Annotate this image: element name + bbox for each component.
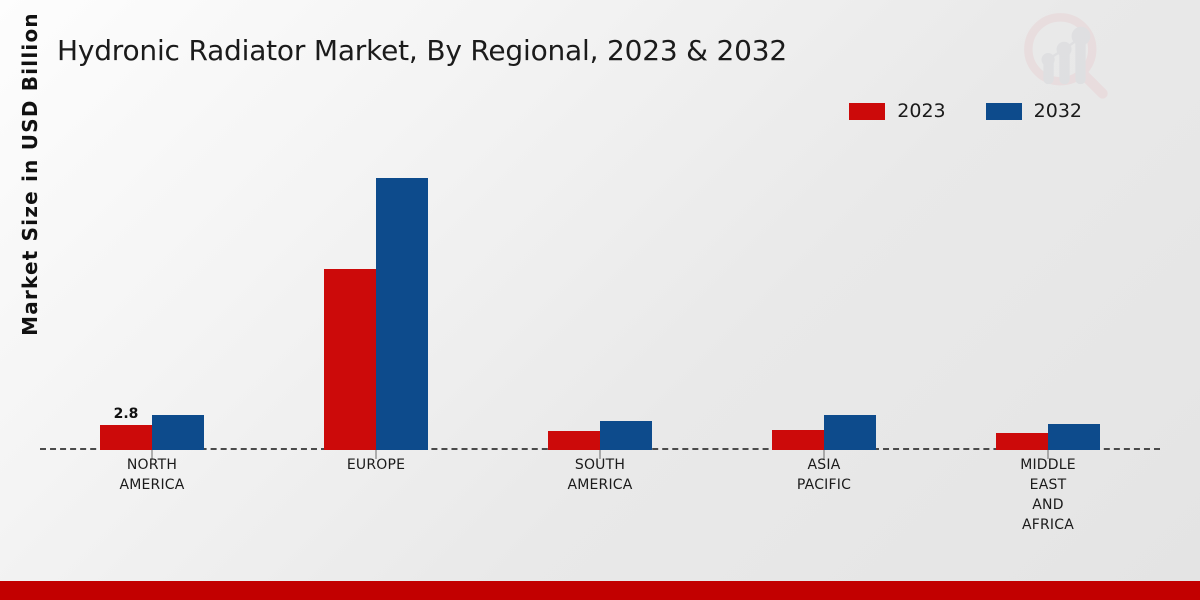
y-axis-title: Market Size in USD Billion (18, 4, 42, 344)
bar-2032-middle-east-and-africa[interactable] (1048, 424, 1100, 450)
footer-accent-bar (0, 581, 1200, 600)
bar-2032-south-america[interactable] (600, 421, 652, 450)
x-axis-label-asia-pacific: ASIAPACIFIC (712, 456, 936, 536)
legend-item-2032[interactable]: 2032 (986, 102, 1082, 121)
bar-2023-middle-east-and-africa[interactable] (996, 433, 1048, 450)
x-axis-label-north-america: NORTHAMERICA (40, 456, 264, 536)
bar-pair: 2.8 (100, 415, 204, 450)
x-axis-label-line: AND (936, 496, 1160, 516)
chart-legend: 2023 2032 (849, 102, 1082, 121)
legend-swatch-2023 (849, 103, 885, 120)
bar-group: 2.8 (40, 150, 264, 450)
bar-2032-north-america[interactable] (152, 415, 204, 450)
bar-group (936, 150, 1160, 450)
bar-2023-asia-pacific[interactable] (772, 430, 824, 450)
x-axis-label-line: SOUTH (488, 456, 712, 476)
bar-value-label: 2.8 (114, 406, 139, 422)
bar-pair (324, 178, 428, 450)
x-axis-label-line: EAST (936, 476, 1160, 496)
x-axis-label-line: ASIA (712, 456, 936, 476)
bar-2023-north-america[interactable]: 2.8 (100, 425, 152, 450)
bar-2032-europe[interactable] (376, 178, 428, 450)
x-axis-label-line: AMERICA (488, 476, 712, 496)
x-axis-label-line: AFRICA (936, 516, 1160, 536)
x-axis-category-labels: NORTHAMERICAEUROPESOUTHAMERICAASIAPACIFI… (40, 456, 1160, 536)
x-axis-label-line: AMERICA (40, 476, 264, 496)
bar-pair (772, 415, 876, 450)
bar-2023-south-america[interactable] (548, 431, 600, 450)
x-axis-label-line: NORTH (40, 456, 264, 476)
plot-area: 2.8 (40, 150, 1160, 450)
bar-group (712, 150, 936, 450)
x-axis-label-line: PACIFIC (712, 476, 936, 496)
x-axis-label-south-america: SOUTHAMERICA (488, 456, 712, 536)
bar-group (264, 150, 488, 450)
legend-swatch-2032 (986, 103, 1022, 120)
bar-groups: 2.8 (40, 150, 1160, 450)
bar-2023-europe[interactable] (324, 269, 376, 450)
bar-2032-asia-pacific[interactable] (824, 415, 876, 450)
x-axis-label-line: EUROPE (264, 456, 488, 476)
bar-pair (996, 424, 1100, 450)
x-axis-label-europe: EUROPE (264, 456, 488, 536)
legend-label-2032: 2032 (1034, 102, 1082, 121)
legend-label-2023: 2023 (897, 102, 945, 121)
x-axis-label-line: MIDDLE (936, 456, 1160, 476)
bar-group (488, 150, 712, 450)
company-watermark-logo (1018, 6, 1112, 102)
bar-pair (548, 421, 652, 450)
legend-item-2023[interactable]: 2023 (849, 102, 945, 121)
x-axis-label-middle-east-and-africa: MIDDLEEASTANDAFRICA (936, 456, 1160, 536)
page-title: Hydronic Radiator Market, By Regional, 2… (57, 34, 787, 67)
chart-canvas: Hydronic Radiator Market, By Regional, 2… (0, 0, 1200, 600)
